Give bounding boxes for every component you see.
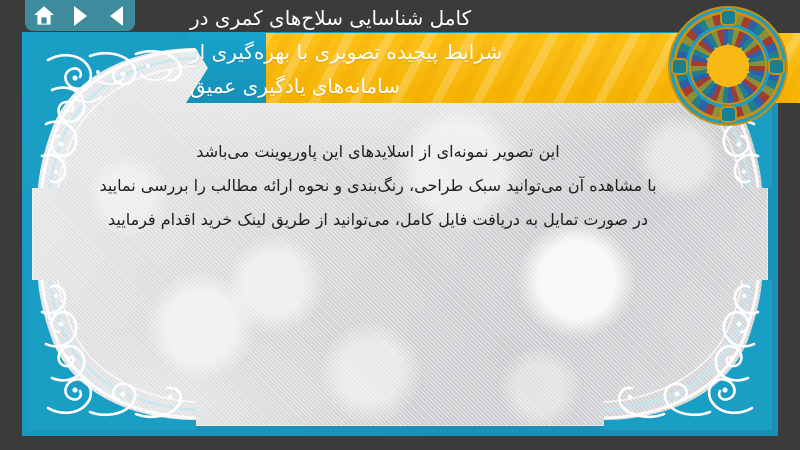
outer-band-left bbox=[0, 0, 22, 450]
forward-button[interactable] bbox=[69, 5, 91, 27]
triangle-right-icon bbox=[74, 6, 87, 26]
title-line-1: کامل شناسایی سلاح‌های کمری در bbox=[190, 1, 471, 35]
body-line-3: در صورت تمایل به دریافت فایل کامل، می‌تو… bbox=[60, 203, 696, 237]
medallion-node-left bbox=[673, 60, 686, 73]
medallion-node-bottom bbox=[722, 108, 735, 121]
title-line-2: شرایط پیچیده تصویری با بهره‌گیری از bbox=[190, 35, 502, 69]
slide-viewer: این تصویر نمونه‌ای از اسلایدهای این پاور… bbox=[0, 0, 800, 450]
slide-body-text: این تصویر نمونه‌ای از اسلایدهای این پاور… bbox=[60, 135, 696, 237]
body-line-1: این تصویر نمونه‌ای از اسلایدهای این پاور… bbox=[60, 135, 696, 169]
medallion-node-right bbox=[770, 60, 783, 73]
home-button[interactable] bbox=[33, 5, 55, 27]
back-button[interactable] bbox=[105, 5, 127, 27]
title-line-3: سامانه‌های یادگیری عمیق bbox=[190, 69, 400, 103]
triangle-left-icon bbox=[110, 6, 123, 26]
medallion-node-top bbox=[722, 11, 735, 24]
home-icon bbox=[33, 5, 55, 26]
persian-medallion-ornament bbox=[676, 14, 780, 118]
body-line-2: با مشاهده آن می‌توانید سبک طراحی، رنگ‌بن… bbox=[60, 169, 696, 203]
outer-band-bottom bbox=[0, 436, 800, 450]
slide-title: کامل شناسایی سلاح‌های کمری در شرایط پیچی… bbox=[190, 0, 710, 105]
navigation-bar bbox=[25, 0, 135, 31]
